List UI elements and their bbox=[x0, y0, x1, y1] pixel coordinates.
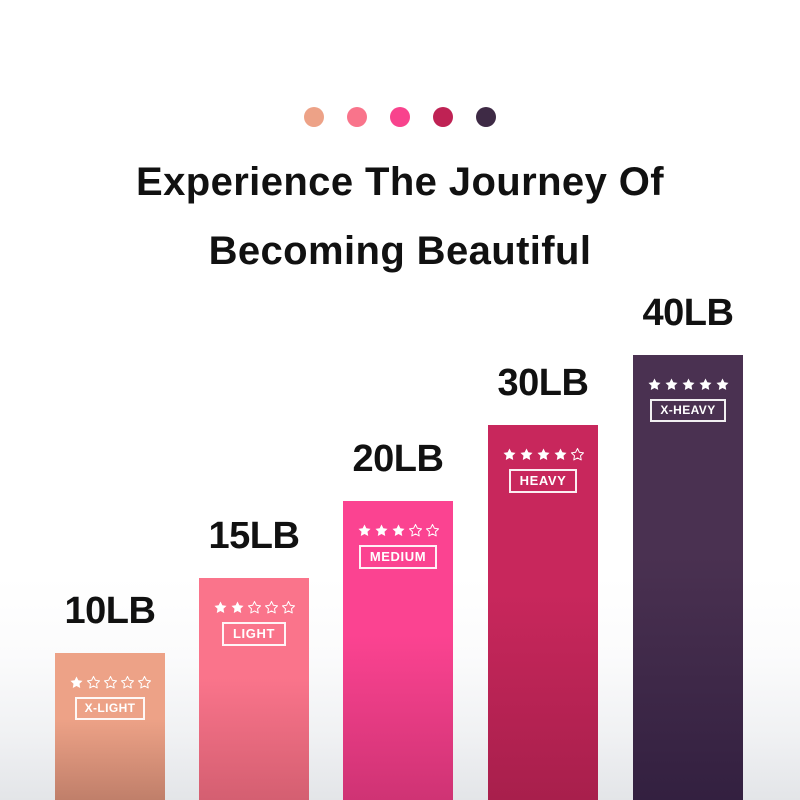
star-filled-icon bbox=[553, 447, 568, 462]
star-filled-icon bbox=[536, 447, 551, 462]
resistance-tag: X-LIGHT bbox=[75, 697, 146, 720]
star-filled-icon bbox=[647, 377, 662, 392]
promo-graphic: Experience The Journey Of Becoming Beaut… bbox=[0, 0, 800, 800]
bar-group: 30LBHEAVY bbox=[488, 0, 598, 800]
star-empty-icon bbox=[281, 600, 296, 615]
star-filled-icon bbox=[391, 523, 406, 538]
bar-15lb: LIGHT bbox=[199, 578, 309, 800]
bar-value-label: 30LB bbox=[498, 361, 589, 405]
star-filled-icon bbox=[230, 600, 245, 615]
star-empty-icon bbox=[247, 600, 262, 615]
star-filled-icon bbox=[698, 377, 713, 392]
star-empty-icon bbox=[264, 600, 279, 615]
bar-group: 20LBMEDIUM bbox=[343, 0, 453, 800]
bar-group: 10LBX-LIGHT bbox=[55, 0, 165, 800]
resistance-tag: HEAVY bbox=[509, 469, 578, 493]
star-empty-icon bbox=[137, 675, 152, 690]
star-rating bbox=[357, 523, 440, 538]
bar-value-label: 40LB bbox=[643, 291, 734, 335]
bar-value-label: 10LB bbox=[65, 589, 156, 633]
bar-group: 15LBLIGHT bbox=[199, 0, 309, 800]
star-empty-icon bbox=[408, 523, 423, 538]
star-filled-icon bbox=[357, 523, 372, 538]
bar-badge: X-HEAVY bbox=[633, 377, 743, 422]
bar-badge: HEAVY bbox=[488, 447, 598, 493]
resistance-tag: X-HEAVY bbox=[650, 399, 725, 422]
bar-group: 40LBX-HEAVY bbox=[633, 0, 743, 800]
star-rating bbox=[502, 447, 585, 462]
star-empty-icon bbox=[86, 675, 101, 690]
bar-value-label: 15LB bbox=[209, 514, 300, 558]
resistance-tag: MEDIUM bbox=[359, 545, 437, 569]
star-filled-icon bbox=[502, 447, 517, 462]
resistance-tag: LIGHT bbox=[222, 622, 286, 646]
resistance-bar-chart: 10LBX-LIGHT15LBLIGHT20LBMEDIUM30LBHEAVY4… bbox=[0, 0, 800, 800]
star-empty-icon bbox=[570, 447, 585, 462]
star-filled-icon bbox=[519, 447, 534, 462]
star-empty-icon bbox=[103, 675, 118, 690]
star-filled-icon bbox=[69, 675, 84, 690]
bar-badge: MEDIUM bbox=[343, 523, 453, 569]
star-filled-icon bbox=[664, 377, 679, 392]
bar-value-label: 20LB bbox=[353, 437, 444, 481]
star-rating bbox=[69, 675, 152, 690]
star-empty-icon bbox=[120, 675, 135, 690]
star-filled-icon bbox=[681, 377, 696, 392]
star-rating bbox=[213, 600, 296, 615]
bar-20lb: MEDIUM bbox=[343, 501, 453, 800]
star-rating bbox=[647, 377, 730, 392]
bar-30lb: HEAVY bbox=[488, 425, 598, 800]
star-filled-icon bbox=[213, 600, 228, 615]
bar-badge: LIGHT bbox=[199, 600, 309, 646]
star-empty-icon bbox=[425, 523, 440, 538]
bar-badge: X-LIGHT bbox=[55, 675, 165, 720]
star-filled-icon bbox=[374, 523, 389, 538]
bar-10lb: X-LIGHT bbox=[55, 653, 165, 800]
star-filled-icon bbox=[715, 377, 730, 392]
bar-40lb: X-HEAVY bbox=[633, 355, 743, 800]
